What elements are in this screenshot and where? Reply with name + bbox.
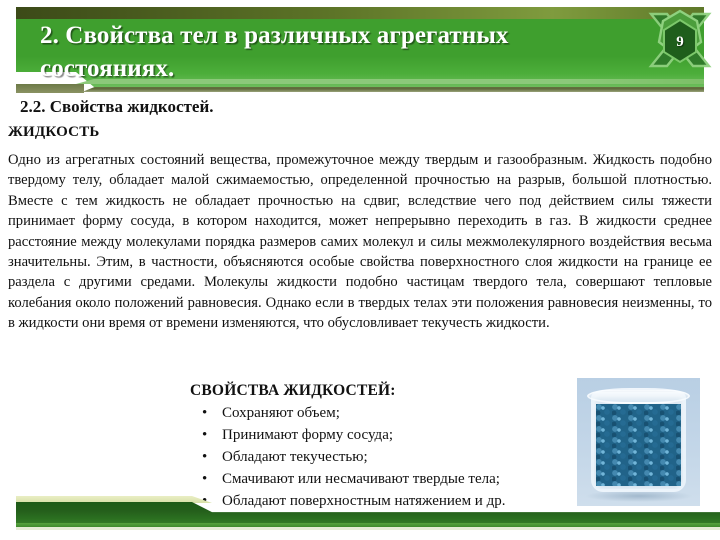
- beaker-glass: [591, 392, 686, 492]
- section-subtitle: 2.2. Свойства жидкостей.: [20, 97, 214, 117]
- liquid-molecules-image: [577, 378, 700, 506]
- footer-green-band: [16, 502, 720, 524]
- list-item-label: Обладают текучестью;: [222, 449, 368, 465]
- beaker-rim: [587, 388, 690, 404]
- bullet-icon: •: [202, 446, 207, 468]
- footer-khaki-edge: [16, 496, 720, 503]
- term-heading: ЖИДКОСТЬ: [8, 124, 100, 141]
- bullet-icon: •: [202, 468, 207, 490]
- header-top-strip: [16, 7, 704, 19]
- bullet-icon: •: [202, 424, 207, 446]
- list-item: • Обладают текучестью;: [190, 446, 560, 468]
- list-item-label: Принимают форму сосуда;: [222, 427, 393, 443]
- list-item: • Смачивают или несмачивают твердые тела…: [190, 468, 560, 490]
- slide-canvas: 2. Свойства тел в различных агрегатных с…: [0, 0, 720, 540]
- body-paragraph: Одно из агрегатных состояний вещества, п…: [8, 150, 712, 334]
- molecule-spheres: [596, 404, 681, 486]
- list-item-label: Смачивают или несмачивают твердые тела;: [222, 471, 500, 487]
- slide-header: 2. Свойства тел в различных агрегатных с…: [0, 0, 720, 100]
- footer-pale-line: [16, 527, 720, 530]
- list-item: • Сохраняют объем;: [190, 402, 560, 424]
- list-item-label: Сохраняют объем;: [222, 405, 340, 421]
- slide-number-text: 9: [645, 8, 715, 76]
- slide-footer: [0, 492, 720, 540]
- properties-heading: СВОЙСТВА ЖИДКОСТЕЙ:: [190, 382, 560, 400]
- slide-title: 2. Свойства тел в различных агрегатных с…: [40, 19, 640, 89]
- bullet-icon: •: [202, 402, 207, 424]
- list-item: • Принимают форму сосуда;: [190, 424, 560, 446]
- slide-number-badge: 9: [645, 8, 715, 76]
